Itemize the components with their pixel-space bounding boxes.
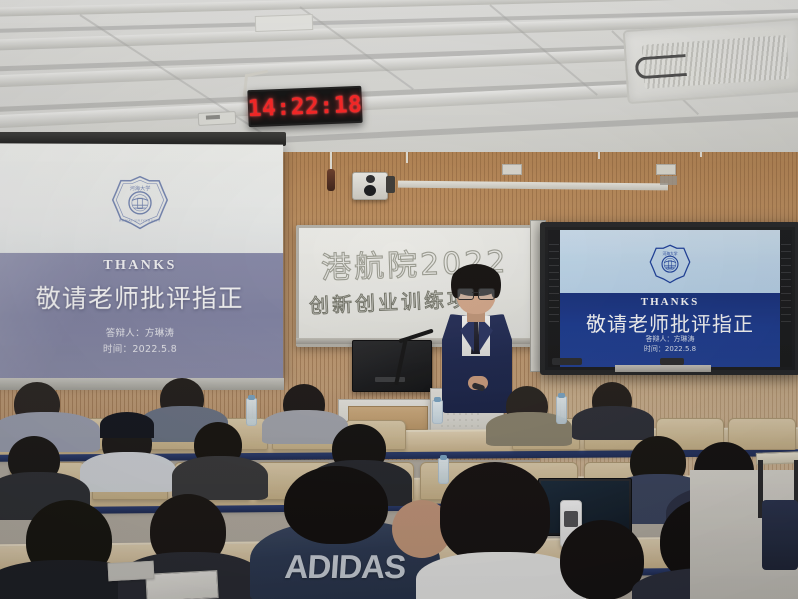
- ceiling-access-plate: [255, 14, 314, 32]
- wall-marker: [660, 176, 677, 185]
- svg-text:HOHAI UNIVERSITY: HOHAI UNIVERSITY: [119, 218, 161, 222]
- camera-lens-icon: [364, 185, 376, 196]
- ceiling-sensor: [198, 111, 237, 126]
- slide-presenter-line: 答辩人：方琳涛: [0, 324, 283, 339]
- podium-monitor: [352, 340, 432, 392]
- slide-presenter-line: 答辩人：方琳涛: [548, 334, 792, 344]
- tv-left-bezel-strip: [548, 230, 560, 367]
- digital-wall-clock: 14:22:18: [247, 86, 362, 127]
- tv-control-panel[interactable]: [552, 358, 582, 365]
- svg-text:河海大学: 河海大学: [662, 251, 677, 256]
- wall-card: [656, 164, 676, 175]
- tv-control-panel[interactable]: [660, 358, 684, 365]
- right-tv-display[interactable]: 河海大学 THANKS 敬请老师批评指正 答辩人：方琳涛 时间：2022.5.8: [540, 222, 798, 375]
- wall-mounted-camera: [352, 172, 388, 200]
- tv-right-bezel-strip: [780, 230, 792, 367]
- ac-nozzle: [635, 54, 687, 80]
- slide-left: 河海大学 HOHAI UNIVERSITY THANKS 敬请老师批评指正 答辩…: [0, 143, 283, 380]
- slide-headline: 敬请老师批评指正: [548, 308, 792, 337]
- paper-sheet: [108, 561, 155, 581]
- slide-headline: 敬请老师批评指正: [0, 278, 283, 314]
- slide-date-line: 时间：2022.5.8: [0, 341, 283, 356]
- water-bottle: [438, 458, 449, 484]
- audience-head-long-hair: [440, 462, 550, 562]
- svg-text:河海大学: 河海大学: [130, 184, 151, 192]
- ceiling: [0, 0, 798, 152]
- presenting-student: [438, 268, 516, 413]
- water-bottle: [556, 396, 567, 424]
- camera-bracket: [386, 176, 395, 193]
- hohai-university-seal-icon: 河海大学 HOHAI UNIVERSITY: [111, 175, 169, 233]
- slide-thanks-text: THANKS: [548, 296, 792, 308]
- ceiling-air-conditioner-vent: [623, 18, 798, 104]
- tv-stand-bar: [615, 365, 711, 372]
- presenter-glasses-icon: [457, 288, 495, 298]
- wall-card: [502, 164, 522, 175]
- tv-screen: 河海大学 THANKS 敬请老师批评指正 答辩人：方琳涛 时间：2022.5.8: [548, 230, 792, 367]
- camera-lens-icon: [366, 175, 375, 183]
- slide-date-line: 时间：2022.5.8: [548, 344, 792, 354]
- audience-head: [284, 466, 388, 544]
- side-chair: [762, 500, 798, 570]
- audience-head: [560, 520, 644, 599]
- clock-time-display: 14:22:18: [247, 91, 363, 121]
- paper-sheet: [145, 570, 218, 599]
- water-bottle: [432, 400, 443, 424]
- water-bottle: [246, 398, 257, 426]
- audience-shoulders: [572, 406, 654, 440]
- audience-cap: [100, 412, 154, 438]
- left-projection-screen: 河海大学 HOHAI UNIVERSITY THANKS 敬请老师批评指正 答辩…: [0, 143, 283, 380]
- slide-thanks-text: THANKS: [0, 258, 283, 274]
- hohai-university-seal-icon: 河海大学: [649, 244, 691, 286]
- audience-shoulders: [80, 452, 176, 492]
- lecture-hall-photo: 14:22:18 河海大学 HOHAI UNIVERSITY THANKS 敬请…: [0, 0, 798, 599]
